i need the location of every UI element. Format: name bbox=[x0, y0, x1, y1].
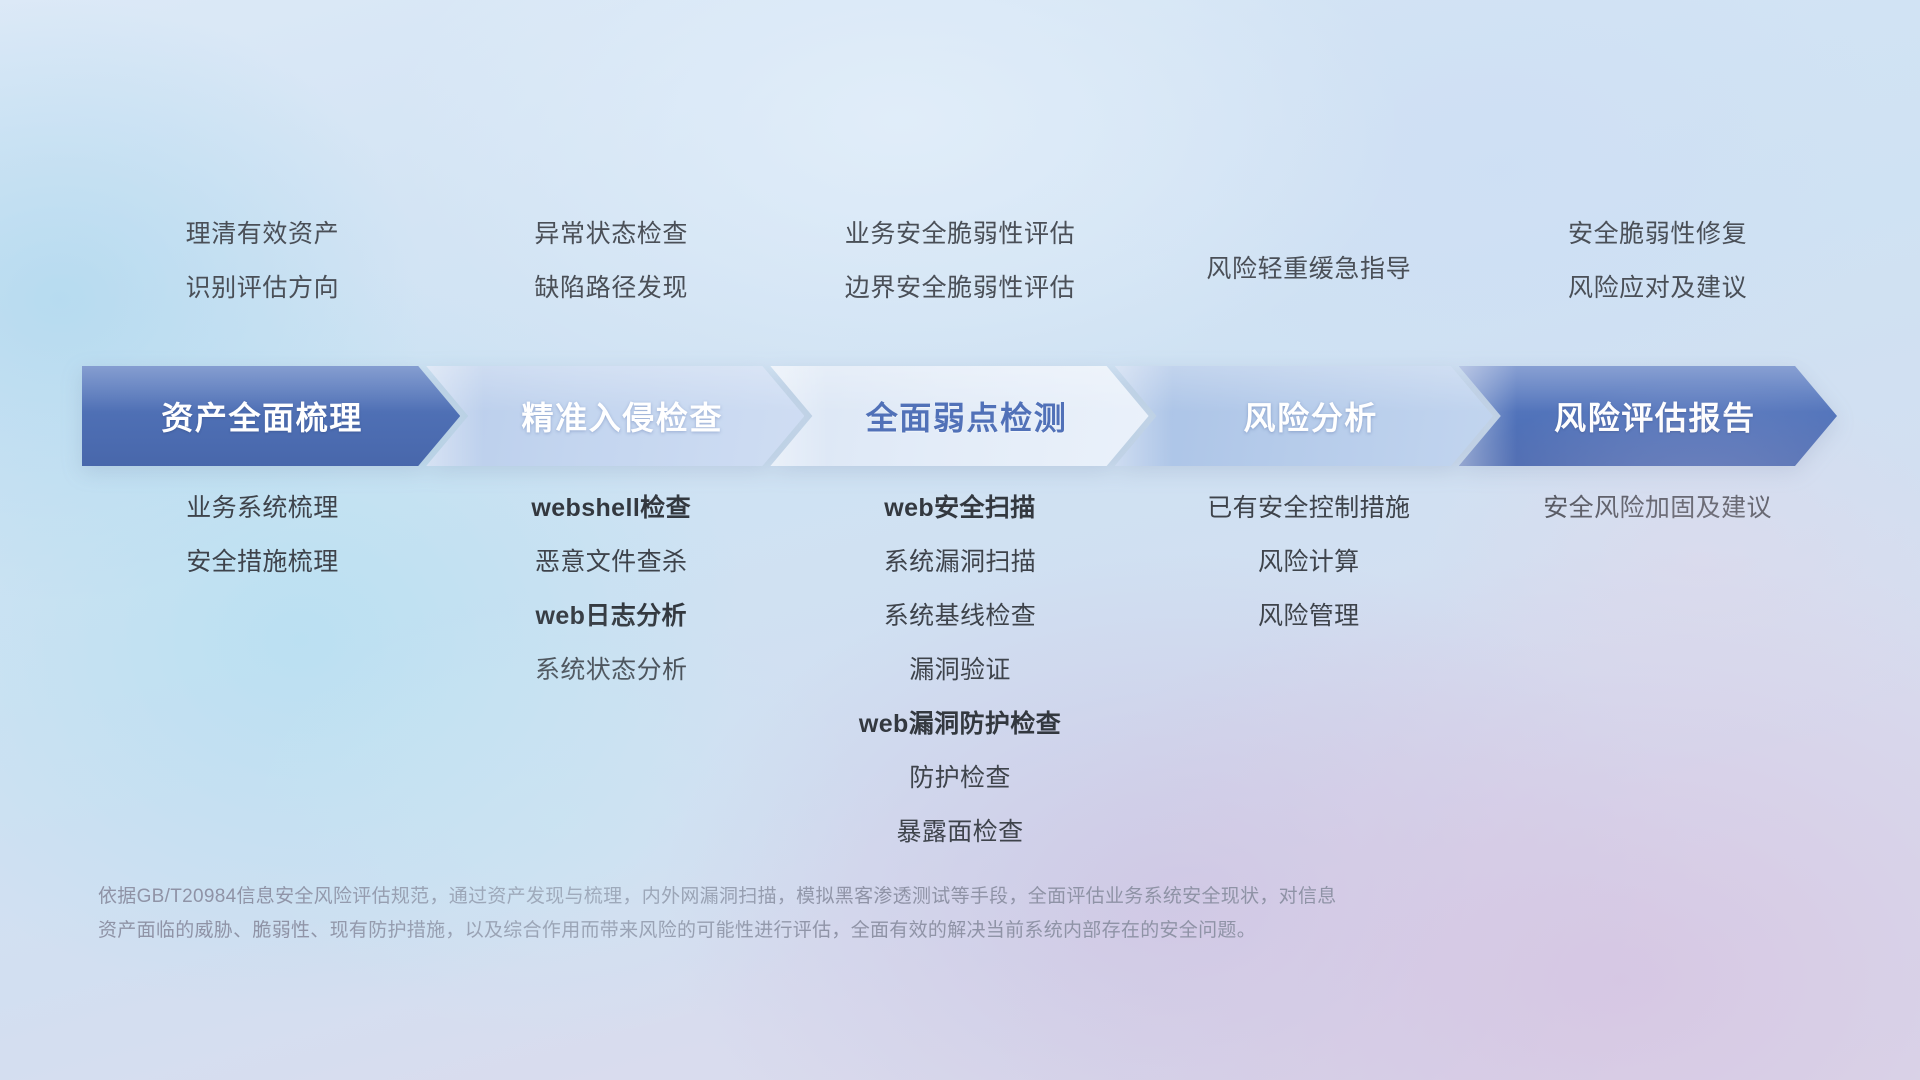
stage-3-details: web安全扫描 系统漏洞扫描 系统基线检查 漏洞验证 web漏洞防护检查 防护检… bbox=[786, 496, 1135, 874]
stage-1-details: 业务系统梳理 安全措施梳理 bbox=[88, 496, 437, 874]
outcome-label: 理清有效资产 bbox=[186, 222, 340, 247]
stage-4-outcomes: 风险轻重缓急指导 bbox=[1134, 222, 1483, 330]
stage-outcomes-row: 理清有效资产 识别评估方向 异常状态检查 缺陷路径发现 业务安全脆弱性评估 边界… bbox=[0, 222, 1920, 330]
stage-label: 资产全面梳理 bbox=[161, 393, 381, 439]
detail-item: 安全措施梳理 bbox=[186, 550, 338, 575]
stage-3-outcomes: 业务安全脆弱性评估 边界安全脆弱性评估 bbox=[786, 222, 1135, 330]
footer-line-2: 资产面临的威胁、脆弱性、现有防护措施，以及综合作用而带来风险的可能性进行评估，全… bbox=[98, 914, 1638, 948]
outcome-label: 安全脆弱性修复 bbox=[1568, 222, 1747, 247]
outcome-label: 业务安全脆弱性评估 bbox=[845, 222, 1075, 247]
process-stage-risk-report[interactable]: 风险评估报告 bbox=[1459, 366, 1837, 466]
process-chevron-band: 资产全面梳理 精准入侵检查 全面弱点检测 风险分析 风险评估报告 bbox=[82, 366, 1837, 466]
stage-5-outcomes: 安全脆弱性修复 风险应对及建议 bbox=[1483, 222, 1832, 330]
stage-details-row: 业务系统梳理 安全措施梳理 webshell检查 恶意文件查杀 web日志分析 … bbox=[0, 496, 1920, 874]
stage-label: 全面弱点检测 bbox=[852, 393, 1068, 439]
detail-item: webshell检查 bbox=[531, 496, 691, 521]
stage-label: 风险评估报告 bbox=[1540, 393, 1756, 439]
stage-5-details: 安全风险加固及建议 bbox=[1483, 496, 1832, 874]
outcome-label: 识别评估方向 bbox=[186, 276, 340, 301]
outcome-label: 缺陷路径发现 bbox=[534, 276, 688, 301]
detail-item: web漏洞防护检查 bbox=[859, 712, 1061, 737]
process-stage-asset-inventory[interactable]: 资产全面梳理 bbox=[82, 366, 460, 466]
stage-label: 精准入侵检查 bbox=[508, 393, 724, 439]
process-diagram-canvas: 理清有效资产 识别评估方向 异常状态检查 缺陷路径发现 业务安全脆弱性评估 边界… bbox=[0, 0, 1920, 1080]
detail-item: web安全扫描 bbox=[884, 496, 1035, 521]
footer-description: 依据GB/T20984信息安全风险评估规范，通过资产发现与梳理，内外网漏洞扫描，… bbox=[98, 880, 1638, 948]
detail-item: 漏洞验证 bbox=[909, 658, 1011, 683]
detail-item: 系统基线检查 bbox=[884, 604, 1036, 629]
detail-item: 防护检查 bbox=[909, 766, 1011, 791]
stage-2-outcomes: 异常状态检查 缺陷路径发现 bbox=[437, 222, 786, 330]
process-stage-risk-analysis[interactable]: 风险分析 bbox=[1115, 366, 1493, 466]
detail-item: 系统漏洞扫描 bbox=[884, 550, 1036, 575]
detail-item: 已有安全控制措施 bbox=[1207, 496, 1410, 521]
detail-item: 暴露面检查 bbox=[896, 820, 1023, 845]
outcome-label: 风险应对及建议 bbox=[1568, 276, 1747, 301]
stage-4-details: 已有安全控制措施 风险计算 风险管理 bbox=[1134, 496, 1483, 874]
process-stage-intrusion-check[interactable]: 精准入侵检查 bbox=[426, 366, 804, 466]
stage-1-outcomes: 理清有效资产 识别评估方向 bbox=[88, 222, 437, 330]
detail-item: 业务系统梳理 bbox=[186, 496, 338, 521]
outcome-label: 异常状态检查 bbox=[534, 222, 688, 247]
detail-item: 风险计算 bbox=[1258, 550, 1360, 575]
footer-line-1: 依据GB/T20984信息安全风险评估规范，通过资产发现与梳理，内外网漏洞扫描，… bbox=[98, 880, 1638, 914]
detail-item: 安全风险加固及建议 bbox=[1543, 496, 1772, 521]
stage-2-details: webshell检查 恶意文件查杀 web日志分析 系统状态分析 bbox=[437, 496, 786, 874]
detail-item: web日志分析 bbox=[535, 604, 686, 629]
detail-item: 恶意文件查杀 bbox=[535, 550, 687, 575]
detail-item: 系统状态分析 bbox=[535, 658, 687, 683]
stage-label: 风险分析 bbox=[1230, 393, 1378, 439]
detail-item: 风险管理 bbox=[1258, 604, 1360, 629]
outcome-label: 边界安全脆弱性评估 bbox=[845, 276, 1075, 301]
outcome-label: 风险轻重缓急指导 bbox=[1206, 257, 1411, 282]
process-stage-weakness-detection[interactable]: 全面弱点检测 bbox=[770, 366, 1148, 466]
